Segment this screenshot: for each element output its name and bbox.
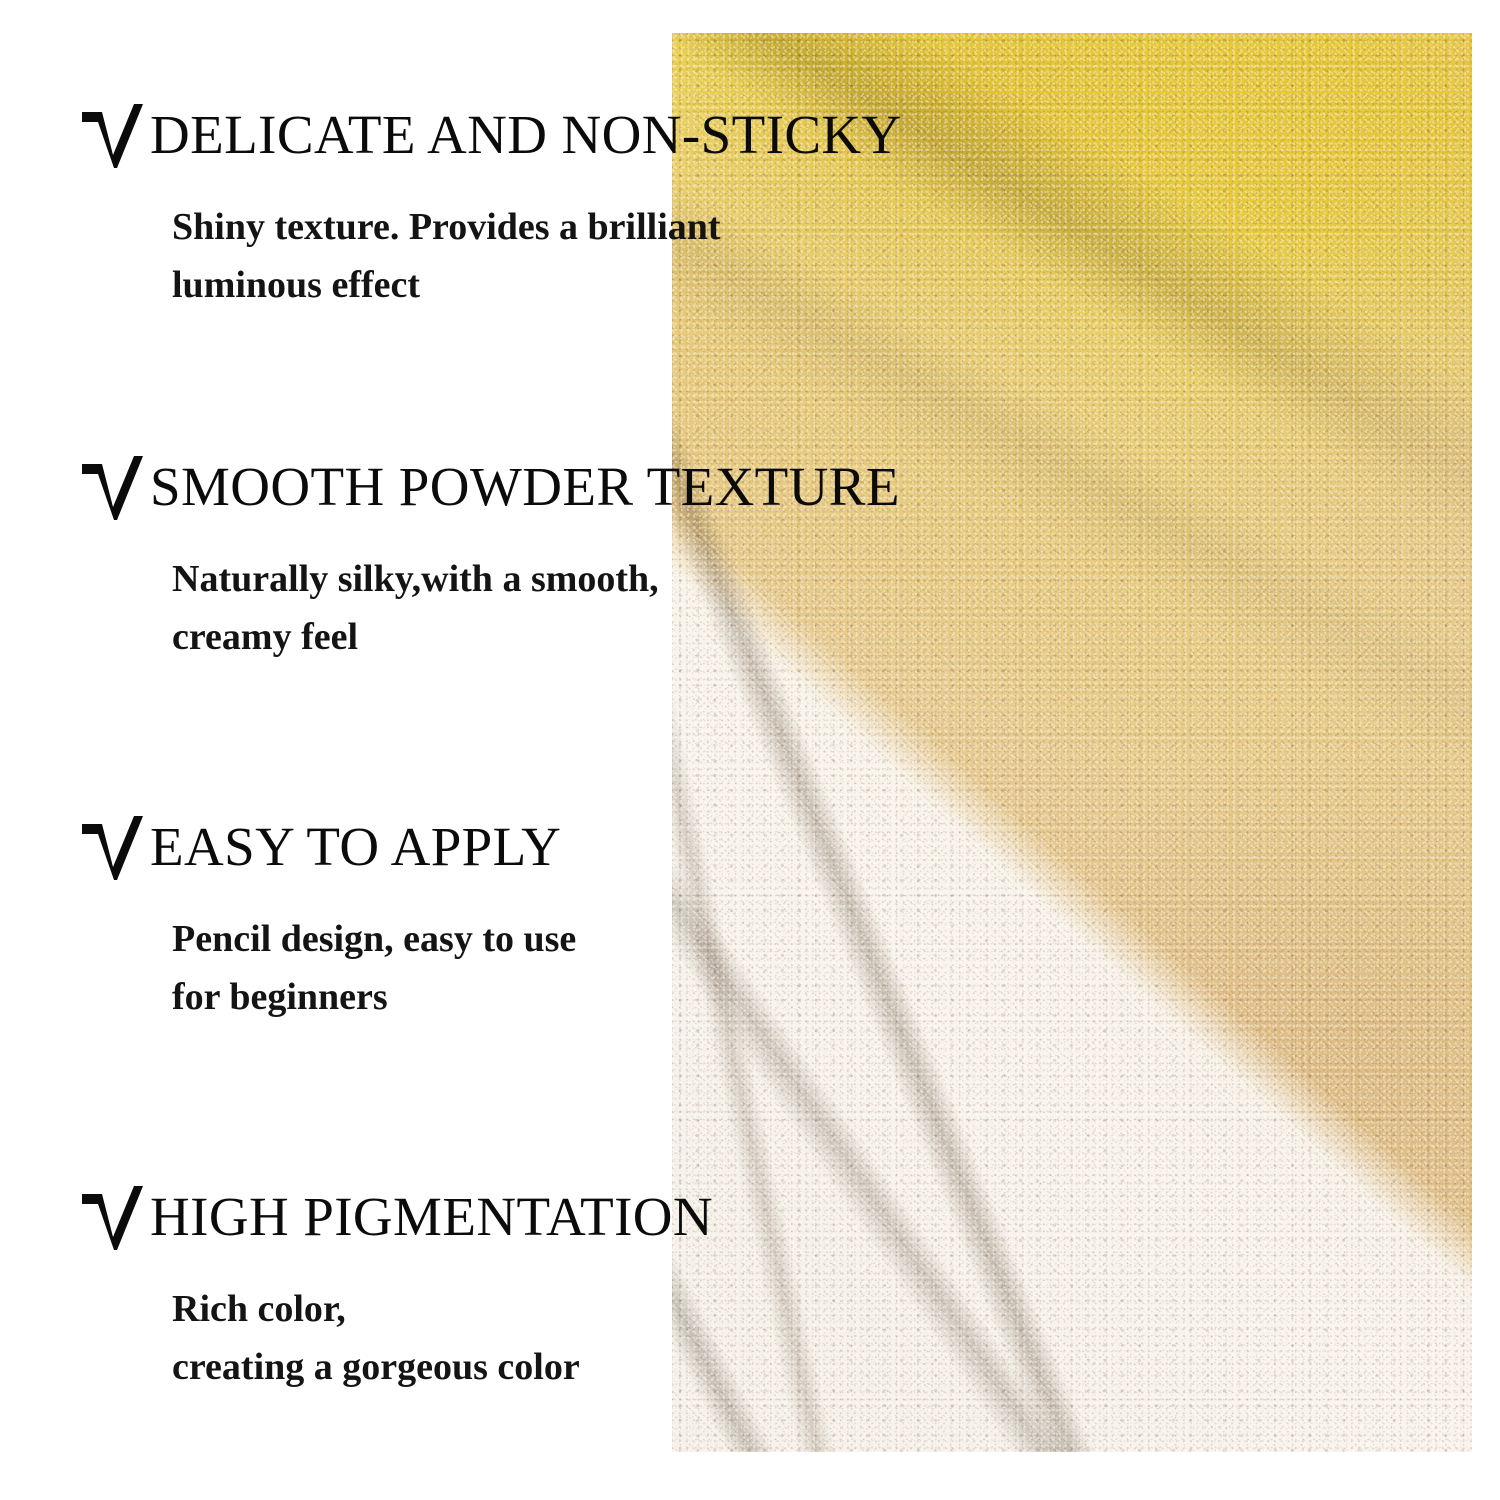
- feature-body-line: Shiny texture. Provides a brilliant: [172, 198, 1078, 256]
- feature-item-high-pigmentation: HIGH PIGMENTATION Rich color, creating a…: [78, 1186, 1078, 1396]
- feature-item-smooth-powder-texture: SMOOTH POWDER TEXTURE Naturally silky,wi…: [78, 456, 1078, 666]
- feature-title: HIGH PIGMENTATION: [150, 1186, 713, 1248]
- feature-body-line: for beginners: [172, 968, 1078, 1026]
- square-root-check-icon: [78, 1180, 150, 1258]
- feature-list: DELICATE AND NON-STICKY Shiny texture. P…: [0, 0, 1500, 1500]
- feature-title: EASY TO APPLY: [150, 816, 561, 878]
- feature-body-line: Pencil design, easy to use: [172, 910, 1078, 968]
- feature-item-easy-to-apply: EASY TO APPLY Pencil design, easy to use…: [78, 816, 1078, 1026]
- feature-item-delicate-and-non-sticky: DELICATE AND NON-STICKY Shiny texture. P…: [78, 104, 1078, 314]
- feature-body-line: luminous effect: [172, 256, 1078, 314]
- feature-body: Naturally silky,with a smooth, creamy fe…: [172, 550, 1078, 666]
- feature-heading-row: DELICATE AND NON-STICKY: [78, 104, 1078, 176]
- square-root-check-icon: [78, 98, 150, 176]
- feature-body-line: Naturally silky,with a smooth,: [172, 550, 1078, 608]
- feature-title: DELICATE AND NON-STICKY: [150, 104, 902, 166]
- feature-body-line: creamy feel: [172, 608, 1078, 666]
- feature-title: SMOOTH POWDER TEXTURE: [150, 456, 900, 518]
- feature-heading-row: EASY TO APPLY: [78, 816, 1078, 888]
- feature-body-line: Rich color,: [172, 1280, 1078, 1338]
- feature-heading-row: SMOOTH POWDER TEXTURE: [78, 456, 1078, 528]
- feature-body: Pencil design, easy to use for beginners: [172, 910, 1078, 1026]
- feature-heading-row: HIGH PIGMENTATION: [78, 1186, 1078, 1258]
- square-root-check-icon: [78, 810, 150, 888]
- feature-body: Shiny texture. Provides a brilliant lumi…: [172, 198, 1078, 314]
- feature-body-line: creating a gorgeous color: [172, 1338, 1078, 1396]
- square-root-check-icon: [78, 450, 150, 528]
- feature-body: Rich color, creating a gorgeous color: [172, 1280, 1078, 1396]
